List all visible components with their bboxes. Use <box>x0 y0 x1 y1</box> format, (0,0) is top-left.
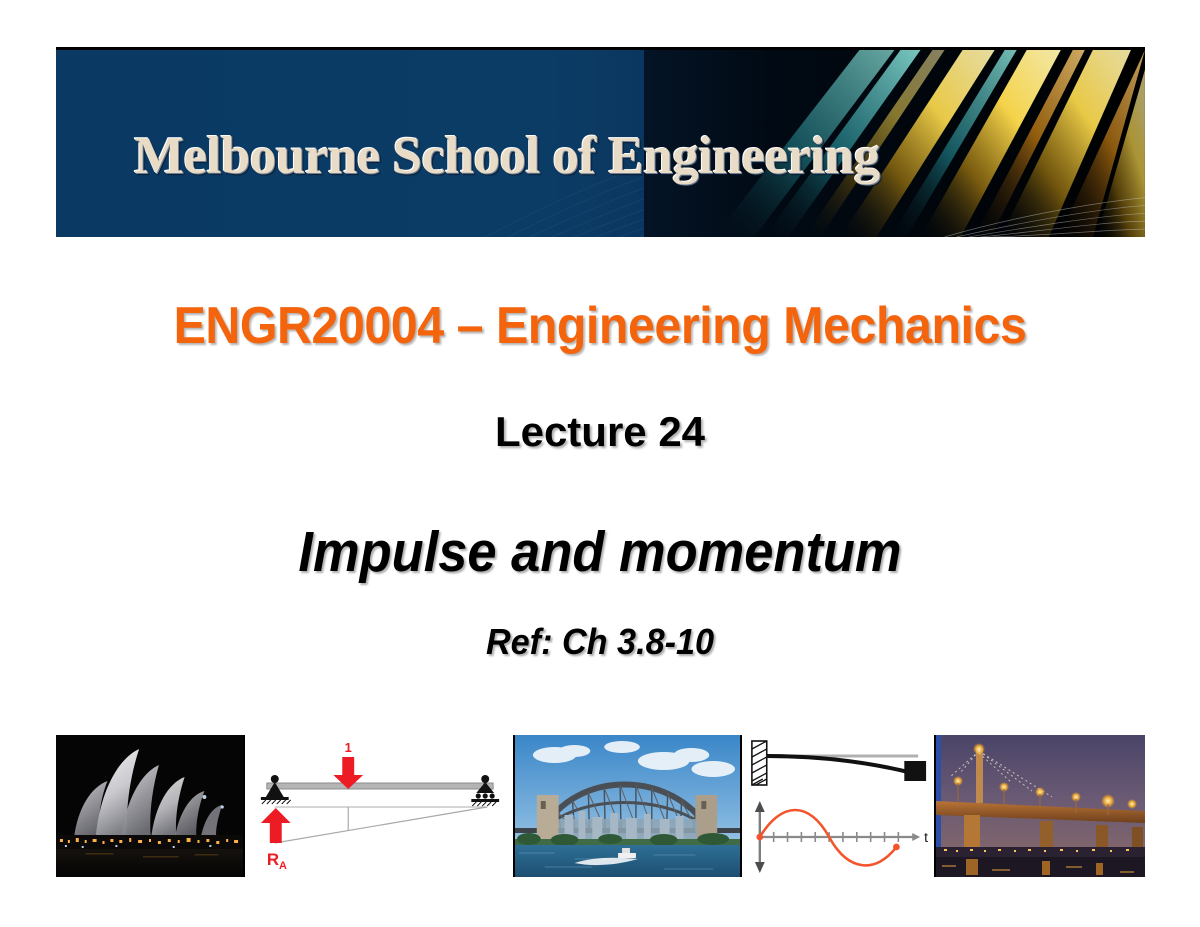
strip-panel-bolte-bridge <box>936 735 1145 877</box>
strip-panel-cantilever-vibration: t <box>742 735 936 877</box>
strip-panel-opera-house <box>56 735 245 877</box>
faculty-banner: Melbourne School of Engineering <box>56 47 1145 237</box>
lecture-topic: Impulse and momentum <box>48 519 1152 585</box>
sydney-harbour-bridge-image <box>515 735 740 877</box>
sydney-opera-house-night-image <box>56 735 243 877</box>
strip-panel-harbour-bridge <box>515 735 742 877</box>
time-axis-label: t <box>924 829 928 845</box>
beam-influence-line-diagram: 1 RA <box>245 735 513 877</box>
bolte-bridge-dusk-image <box>936 735 1145 877</box>
lecture-number: Lecture 24 <box>0 408 1200 456</box>
course-title: ENGR20004 – Engineering Mechanics <box>42 296 1158 356</box>
banner-institution-title: Melbourne School of Engineering <box>134 126 880 186</box>
slide-root: Melbourne School of Engineering ENGR2000… <box>0 0 1200 927</box>
image-strip: 1 RA <box>56 735 1145 877</box>
lecture-reference: Ref: Ch 3.8-10 <box>30 621 1170 663</box>
unit-load-label: 1 <box>345 740 352 755</box>
strip-panel-beam-diagram: 1 RA <box>245 735 515 877</box>
cantilever-vibration-diagram: t <box>742 735 934 877</box>
